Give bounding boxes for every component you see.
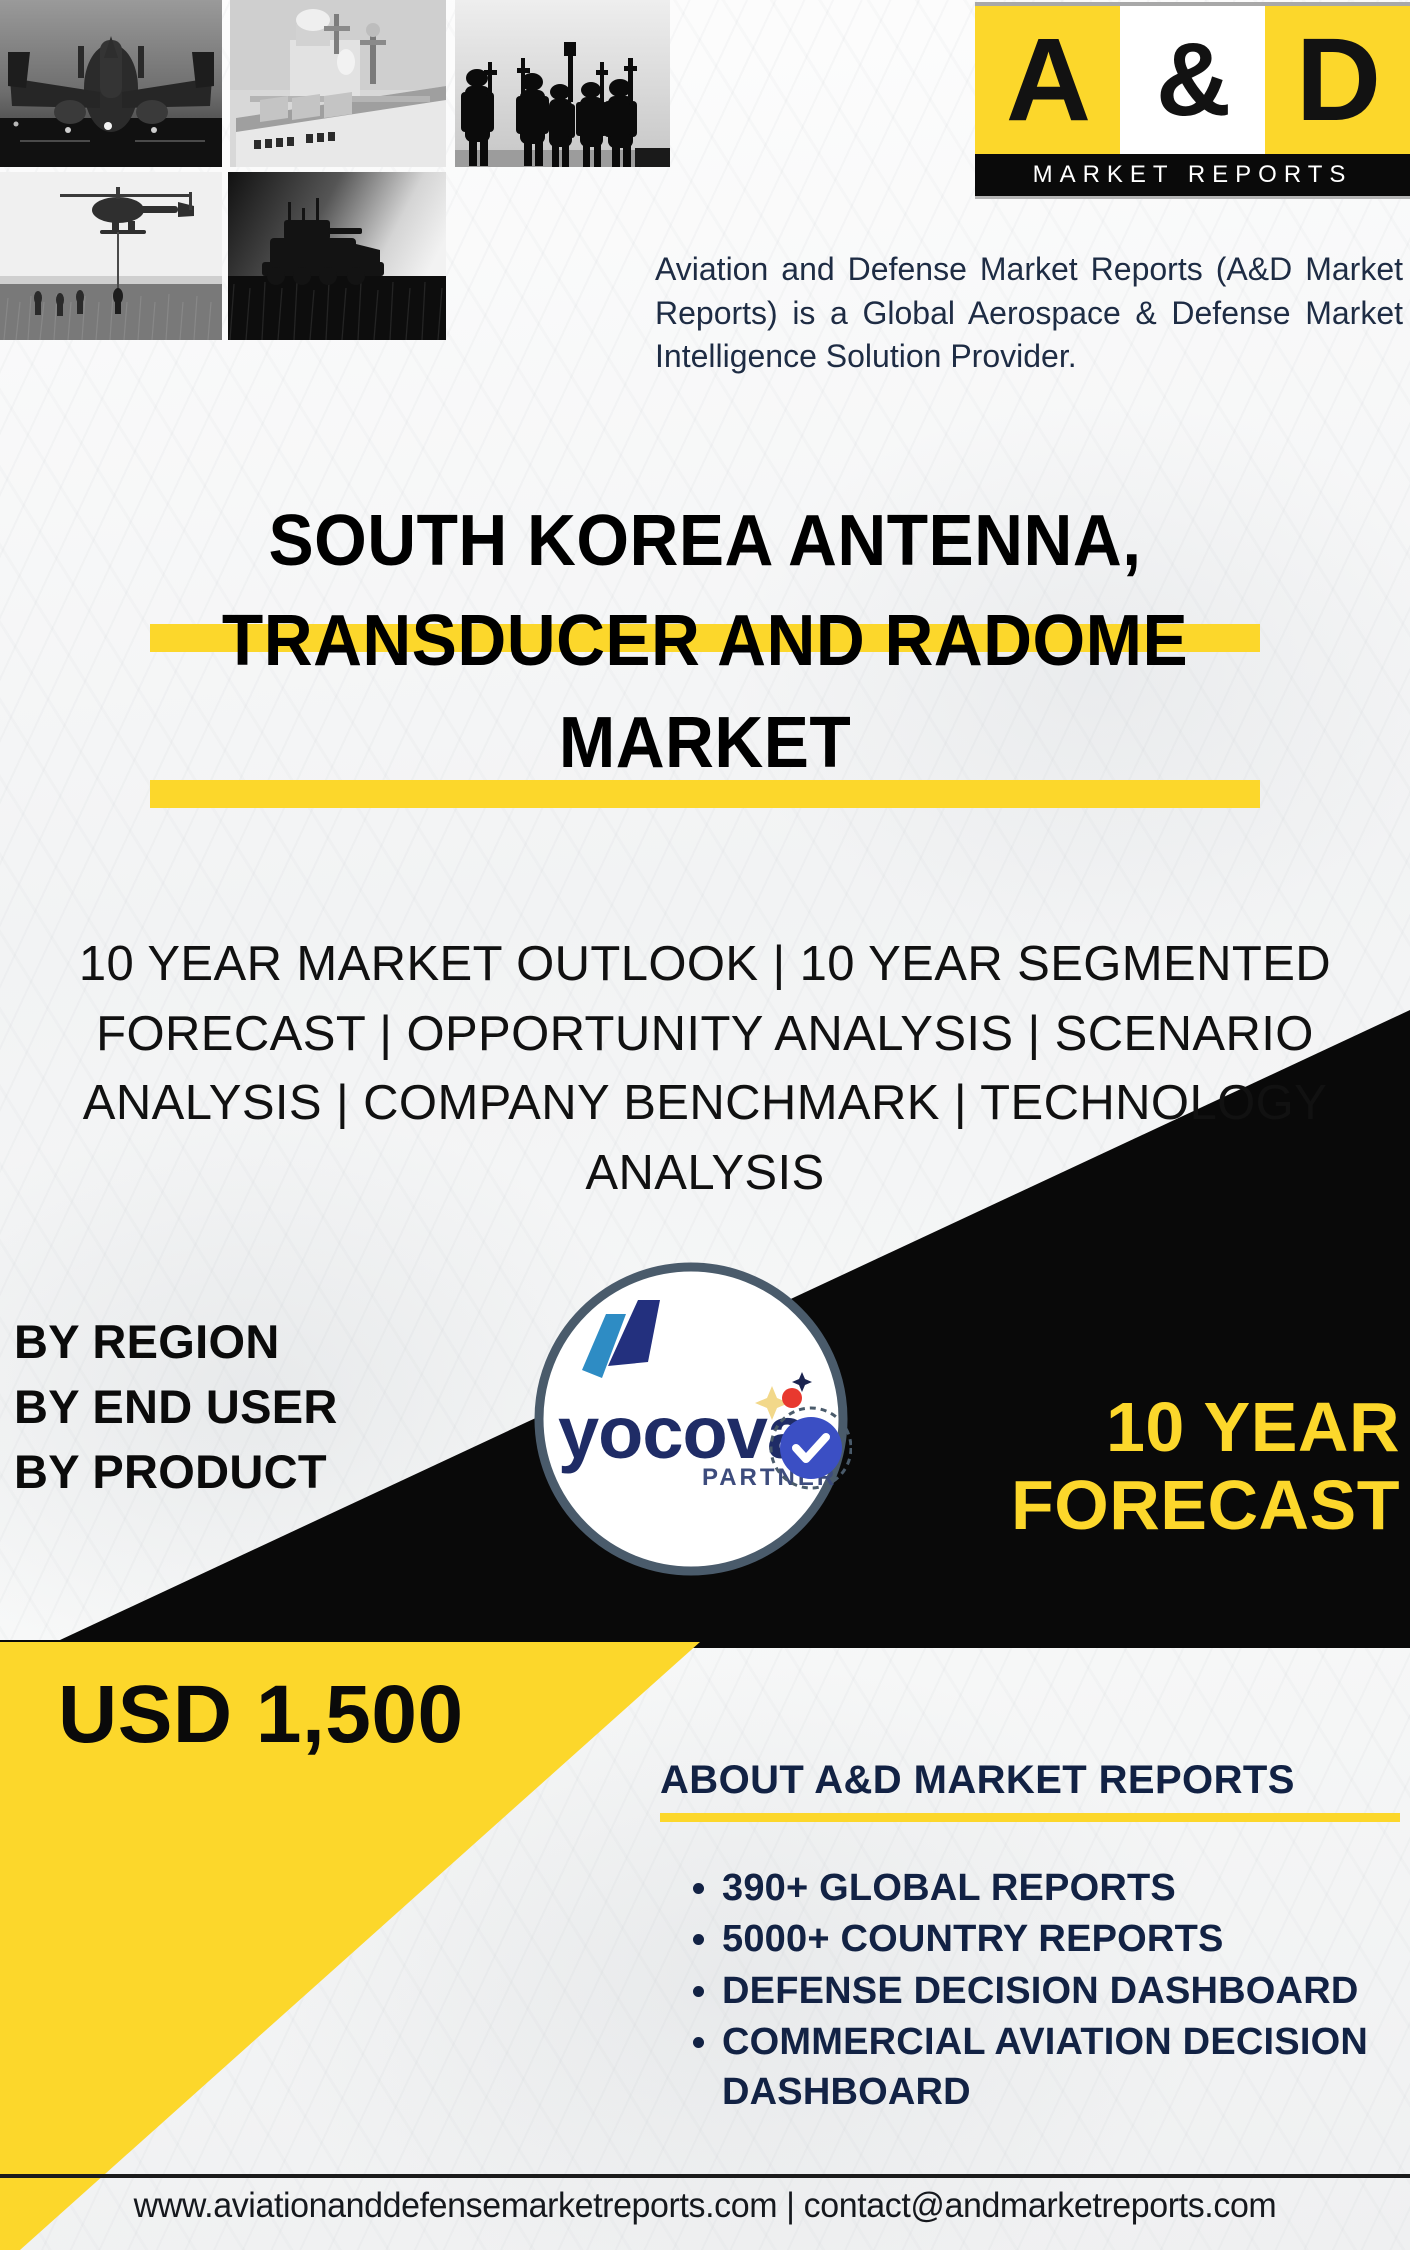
report-title-line-3: MARKET xyxy=(42,707,1367,779)
report-title-line-2: TRANSDUCER AND RADOME xyxy=(42,605,1367,677)
photo-strip xyxy=(0,0,670,340)
about-heading: ABOUT A&D MARKET REPORTS xyxy=(660,1758,1400,1813)
logo-subtitle: MARKET REPORTS xyxy=(975,154,1410,199)
logo-letter-cells: A & D xyxy=(975,2,1410,154)
about-heading-underline xyxy=(660,1813,1400,1822)
report-cover-poster: A & D MARKET REPORTS Aviation and Defens… xyxy=(0,0,1410,2250)
photo-soldiers-silhouette xyxy=(455,0,670,167)
about-bullet-list: 390+ GLOBAL REPORTS 5000+ COUNTRY REPORT… xyxy=(660,1864,1400,2117)
segmentation-item-end-user: BY END USER xyxy=(14,1375,338,1440)
logo-letter-d: D xyxy=(1265,6,1410,154)
logo-letter-ampersand: & xyxy=(1120,6,1265,154)
segmentation-list: BY REGION BY END USER BY PRODUCT xyxy=(14,1310,338,1505)
yocova-wordmark: yocova xyxy=(558,1391,809,1474)
photo-armored-vehicle xyxy=(228,172,446,340)
brand-logo: A & D MARKET REPORTS xyxy=(975,2,1410,199)
about-bullet-defense-dashboard: DEFENSE DECISION DASHBOARD xyxy=(722,1967,1400,2016)
price-value: USD 1,500 xyxy=(58,1668,464,1762)
about-bullet-global-reports: 390+ GLOBAL REPORTS xyxy=(722,1864,1400,1913)
yocova-partner-badge: yocova PARTNER xyxy=(530,1258,852,1580)
report-title-line-1: SOUTH KOREA ANTENNA, xyxy=(42,505,1367,577)
footer-divider xyxy=(0,2174,1410,2178)
photo-fighter-jet-on-carrier-deck xyxy=(0,0,222,167)
report-title: SOUTH KOREA ANTENNA, TRANSDUCER AND RADO… xyxy=(0,505,1410,779)
about-section: ABOUT A&D MARKET REPORTS 390+ GLOBAL REP… xyxy=(660,1758,1400,2119)
title-highlight-bar-2 xyxy=(150,780,1260,808)
photo-naval-warship xyxy=(230,0,446,167)
segmentation-item-product: BY PRODUCT xyxy=(14,1440,338,1505)
company-intro-paragraph: Aviation and Defense Market Reports (A&D… xyxy=(655,248,1403,379)
photo-military-helicopter xyxy=(0,172,222,340)
logo-letter-a: A xyxy=(975,6,1120,154)
about-bullet-commercial-aviation-dashboard: COMMERCIAL AVIATION DECISION DASHBOARD xyxy=(722,2018,1400,2117)
segmentation-item-region: BY REGION xyxy=(14,1310,338,1375)
footer-contact: www.aviationanddefensemarketreports.com … xyxy=(21,2186,1389,2226)
report-subtitle: 10 YEAR MARKET OUTLOOK | 10 YEAR SEGMENT… xyxy=(30,930,1380,1208)
about-bullet-country-reports: 5000+ COUNTRY REPORTS xyxy=(722,1915,1400,1964)
